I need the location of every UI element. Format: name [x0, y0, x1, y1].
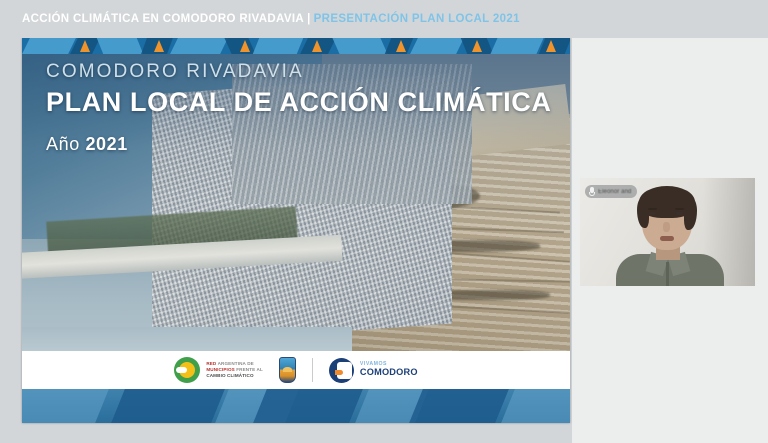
ramcc-line1-strong: RED [206, 361, 216, 366]
shared-slide[interactable]: COMODORO RIVADAVIA PLAN LOCAL DE ACCIÓN … [22, 38, 570, 423]
slide-bottom-decorative-band [22, 389, 570, 423]
slide-eyebrow: COMODORO RIVADAVIA [46, 62, 551, 83]
microphone-icon [589, 187, 595, 196]
participant-eye-left [649, 212, 656, 215]
slide-top-decorative-band [22, 38, 570, 54]
slide-title-block: COMODORO RIVADAVIA PLAN LOCAL DE ACCIÓN … [46, 62, 551, 155]
slide-year-value: 2021 [85, 134, 127, 154]
header-bar: ACCIÓN CLIMÁTICA EN COMODORO RIVADAVIA|P… [0, 0, 768, 38]
red-argentina-municipios-icon [174, 357, 200, 383]
vivamos-comodoro-text: VIVAMOS COMODORO [360, 362, 418, 377]
participant-mouth [660, 236, 674, 241]
ramcc-line2-light: FRENTE AL [236, 367, 263, 372]
participant-brow-left [648, 208, 657, 210]
session-title-separator: | [304, 13, 314, 25]
slide-logo-bar: RED ARGENTINA DE MUNICIPIOS FRENTE AL CA… [22, 351, 570, 389]
participant-name-label: Eleonor and [598, 189, 631, 195]
session-title: ACCIÓN CLIMÁTICA EN COMODORO RIVADAVIA|P… [22, 13, 520, 25]
ramcc-line3: CAMBIO CLIMÁTICO [206, 373, 253, 378]
session-title-main: ACCIÓN CLIMÁTICA EN COMODORO RIVADAVIA [22, 13, 304, 25]
participant-name-badge: Eleonor and [585, 185, 637, 198]
vivamos-comodoro-icon [329, 358, 354, 383]
ramcc-line2-strong: MUNICIPIOS [206, 367, 235, 372]
session-title-highlight: PRESENTACIÓN PLAN LOCAL 2021 [314, 13, 520, 25]
slide-year-label: Año [46, 134, 80, 154]
participant-hair-side-left [637, 198, 649, 228]
participant-brow-right [675, 208, 684, 210]
logo-vivamos-comodoro: VIVAMOS COMODORO [329, 358, 418, 383]
meeting-screen: ACCIÓN CLIMÁTICA EN COMODORO RIVADAVIA|P… [0, 0, 768, 443]
slide-main-title: PLAN LOCAL DE ACCIÓN CLIMÁTICA [46, 87, 551, 118]
ramcc-line1-light: ARGENTINA DE [218, 361, 254, 366]
logo-divider [312, 358, 313, 382]
participant-eye-right [676, 212, 683, 215]
participant-nose [663, 222, 670, 232]
red-argentina-municipios-text: RED ARGENTINA DE MUNICIPIOS FRENTE AL CA… [206, 361, 263, 380]
slide-year-line: Año 2021 [46, 134, 551, 155]
comodoro-rivadavia-shield-icon [279, 357, 296, 383]
participant-shirt-placket [666, 262, 669, 286]
logo-red-argentina-municipios: RED ARGENTINA DE MUNICIPIOS FRENTE AL CA… [174, 357, 263, 383]
participant-video-tile[interactable]: Eleonor and [580, 178, 755, 286]
comodoro-label: COMODORO [360, 368, 418, 378]
